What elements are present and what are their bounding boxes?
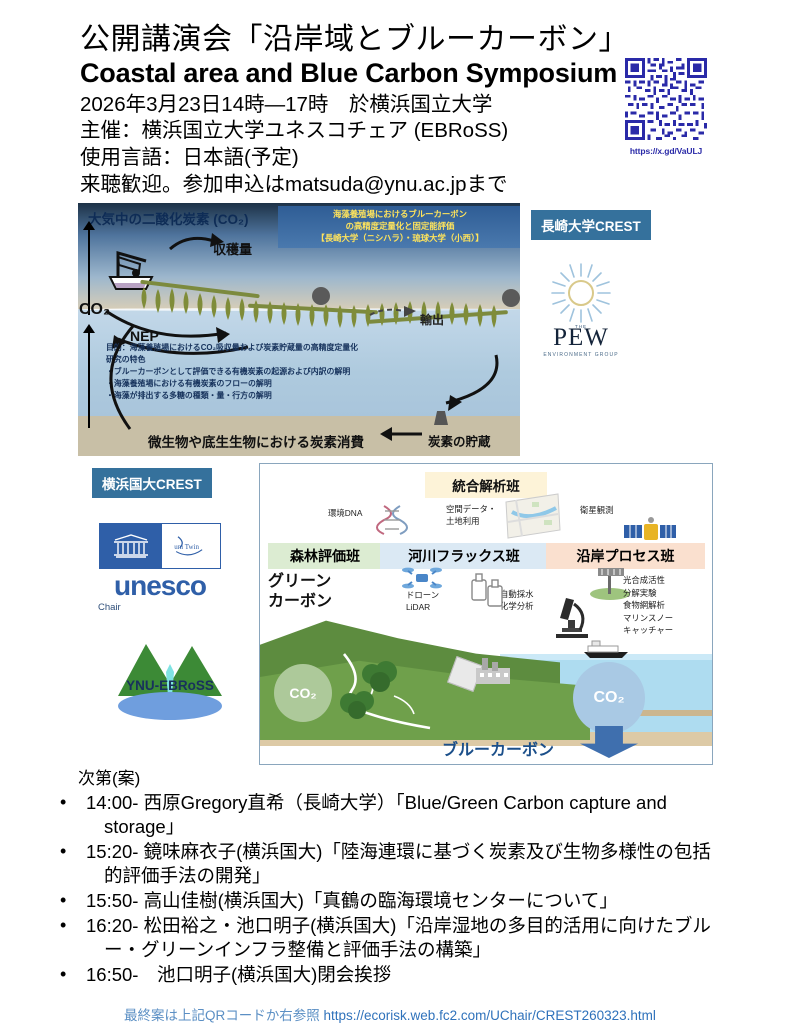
event-contact: 来聴歓迎。参加申込はmatsuda@ynu.ac.jpまで: [80, 172, 700, 199]
team-tag-forest: 森林評価班: [268, 543, 382, 569]
microscope-icon: [548, 594, 596, 644]
qr-url-label[interactable]: https://x.gd/VaULJ: [620, 146, 712, 156]
pew-subtitle-label: ENVIRONMENT GROUP: [540, 352, 622, 358]
ynu-ebross-logo: YNU-EBRoSS: [100, 634, 240, 729]
program-heading: 次第(案): [78, 768, 718, 790]
label-green-carbon: グリーン カーボン: [268, 572, 332, 612]
list-item: • 16:50- 池口明子(横浜国大)閉会挨拶: [78, 963, 718, 987]
page-title-english: Coastal area and Blue Carbon Symposium: [80, 58, 700, 88]
research-vessel-icon: [580, 640, 632, 660]
forest-canopy-icon-1: [360, 660, 402, 694]
unesco-emblem: uni Twin: [99, 523, 221, 569]
event-language: 使用言語：日本語(予定): [80, 145, 700, 172]
dna-helix-icon: [376, 504, 408, 536]
subtitle-line-1: 海藻養殖場におけるブルーカーボン: [282, 209, 518, 221]
diagram1-title: 大気中の二酸化炭素 (CO₂): [88, 208, 249, 228]
footer-note-text: 最終案は上記QRコードか右参照: [124, 1008, 320, 1023]
storage-arrow-icon: [418, 353, 508, 433]
label-carbon-consumption: 微生物や底生生物における炭素消費: [148, 431, 364, 451]
buoy-icon-2: [502, 289, 520, 307]
unesco-wordmark: unesco: [96, 572, 224, 600]
label-blue-carbon: ブルーカーボン: [442, 736, 554, 760]
unitwin-icon: uni Twin: [162, 524, 220, 568]
qr-block: https://x.gd/VaULJ: [620, 58, 712, 156]
co2-blue-bubble: CO₂: [573, 662, 645, 734]
temple-glyph: [111, 532, 151, 560]
event-meta: 2026年3月23日14時—17時 於横浜国立大学 主催：横浜国立大学ユネスコチ…: [80, 92, 700, 199]
objective-line-4: ・海藻養殖場における有機炭素のフローの解明: [106, 378, 436, 390]
unesco-chair-label: Chair: [98, 602, 224, 613]
unitwin-glyph: uni Twin: [168, 533, 214, 559]
ynu-ebross-label: YNU-EBRoSS: [100, 678, 240, 693]
objective-line-2: 研究の特色: [106, 354, 436, 366]
co2-green-bubble: CO₂: [274, 664, 332, 722]
list-item: • 15:50- 高山佳樹(横浜国大)「真鶴の臨海環境センターについて」: [78, 889, 718, 913]
subtitle-line-3: 【長崎大学（ニシハラ）・琉球大学（小西）】: [282, 233, 518, 245]
program-item-text: 15:20- 鏡味麻衣子(横浜国大)「陸海連環に基づく炭素及び生物多様性の包括的…: [86, 841, 711, 886]
annotation-satellite: 衛星観測: [580, 505, 614, 517]
program-item-text: 14:00- 西原Gregory直希（長崎大学）「Blue/Green Carb…: [86, 792, 667, 837]
map-tile-icon: [502, 492, 564, 542]
event-datetime: 2026年3月23日14時—17時 於横浜国立大学: [80, 92, 700, 119]
label-harvest: 収穫量: [213, 239, 252, 258]
poster-page: 公開講演会「沿岸域とブルーカーボン」 Coastal area and Blue…: [0, 0, 787, 1024]
header: 公開講演会「沿岸域とブルーカーボン」 Coastal area and Blue…: [80, 22, 700, 198]
forest-canopy-icon-2: [338, 690, 380, 722]
list-item: • 16:20- 松田裕之・池口明子(横浜国大)「沿岸湿地の多目的活用に向けたブ…: [78, 914, 718, 962]
drone-icon: [402, 564, 442, 592]
program-item-text: 16:20- 松田裕之・池口明子(横浜国大)「沿岸湿地の多目的活用に向けたブルー…: [86, 915, 711, 960]
subtitle-line-2: の高精度定量化と固定能評価: [282, 221, 518, 233]
diagram-green-blue-carbon: 統合解析班 環境DNA 空間データ・ 土地利用 衛星観測 森林: [259, 463, 713, 765]
diagram-seaweed-carbon: 大気中の二酸化炭素 (CO₂) 海藻養殖場におけるブルーカーボン の高精度定量化…: [78, 203, 520, 456]
unesco-temple-icon: [100, 524, 162, 568]
consumption-arrow-icon: [378, 425, 424, 443]
list-item: • 15:20- 鏡味麻衣子(横浜国大)「陸海連環に基づく炭素及び生物多様性の包…: [78, 840, 718, 888]
annotation-edna: 環境DNA: [328, 508, 362, 520]
diagram1-objective-text: 目的：海藻養殖場におけるCO₂吸収量および炭素貯蔵量の高精度定量化 研究の特色 …: [106, 342, 436, 402]
factory-icon: [472, 654, 518, 688]
pew-logo: THE PEW ENVIRONMENT GROUP: [540, 262, 622, 358]
pew-sunburst-icon: [550, 262, 612, 324]
qr-code-icon[interactable]: [625, 58, 707, 140]
badge-yokohama-crest: 横浜国大CREST: [92, 468, 212, 498]
program-list: • 14:00- 西原Gregory直希（長崎大学）「Blue/Green Ca…: [78, 791, 718, 987]
export-arrow-icon: [368, 303, 428, 323]
page-title-japanese: 公開講演会「沿岸域とブルーカーボン」: [80, 22, 700, 57]
program-section: 次第(案) • 14:00- 西原Gregory直希（長崎大学）「Blue/Gr…: [78, 768, 718, 987]
annotation-coastal-methods: 光合成活性 分解実験 食物網解析 マリンスノー キャッチャー: [623, 574, 673, 637]
diagram1-subtitle-box: 海藻養殖場におけるブルーカーボン の高精度定量化と固定能評価 【長崎大学（ニシハ…: [278, 206, 520, 248]
annotation-spatial-data: 空間データ・ 土地利用: [446, 504, 496, 528]
unesco-logo: uni Twin unesco Chair: [96, 523, 224, 613]
sample-bottles-icon: [468, 568, 512, 614]
svg-text:uni Twin: uni Twin: [174, 543, 199, 551]
program-item-text: 15:50- 高山佳樹(横浜国大)「真鶴の臨海環境センターについて」: [86, 890, 618, 911]
consumption-curve-icon: [88, 323, 148, 435]
list-item: • 14:00- 西原Gregory直希（長崎大学）「Blue/Green Ca…: [78, 791, 718, 839]
badge-nagasaki-crest: 長崎大学CREST: [531, 210, 651, 240]
event-host: 主催：横浜国立大学ユネスコチェア (EBRoSS): [80, 118, 700, 145]
footer-note: 最終案は上記QRコードか右参照 https://ecorisk.web.fc2.…: [124, 1004, 656, 1024]
objective-line-3: ・ブルーカーボンとして評価できる有機炭素の起源および内訳の解明: [106, 366, 436, 378]
label-export: 輸出: [420, 311, 444, 328]
objective-line-1: 目的：海藻養殖場におけるCO₂吸収量および炭素貯蔵量の高精度定量化: [106, 342, 436, 354]
program-item-text: 16:50- 池口明子(横浜国大)閉会挨拶: [86, 964, 391, 985]
objective-line-5: ・海藻が排出する多糖の種類・量・行方の解明: [106, 390, 436, 402]
buoy-icon-1: [312, 287, 330, 305]
pew-name-label: PEW: [540, 325, 622, 350]
label-carbon-storage: 炭素の貯蔵: [428, 431, 491, 450]
footer-url-link[interactable]: https://ecorisk.web.fc2.com/UChair/CREST…: [324, 1008, 656, 1023]
annotation-drone-lidar: ドローン LiDAR: [406, 590, 439, 614]
